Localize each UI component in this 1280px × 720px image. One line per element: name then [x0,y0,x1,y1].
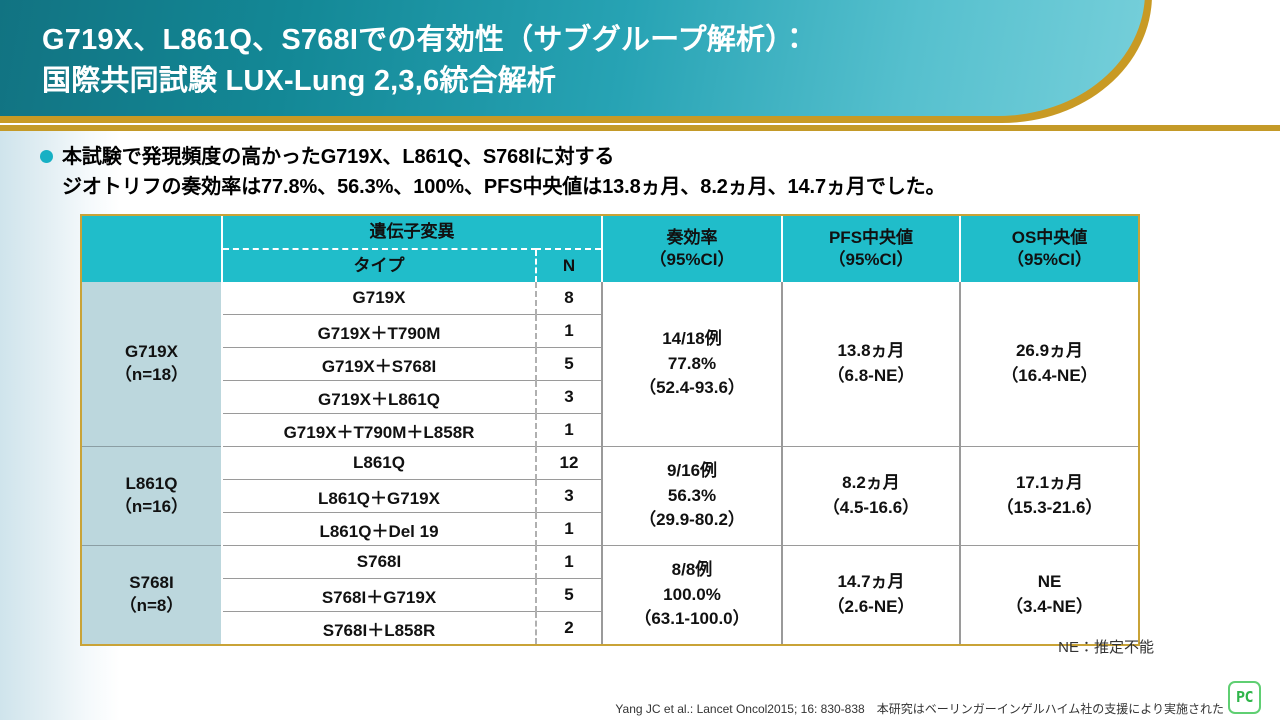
type-cell: L861Q [222,447,536,480]
n-cell: 1 [536,315,602,348]
table-row: S768I （n=8） S768I 1 8/8例 100.0% （63.1-10… [82,546,1138,579]
n-cell: 1 [536,546,602,579]
summary-bullet: 本試験で発現頻度の高かったG719X、L861Q、S768Iに対する ジオトリフ… [40,142,1230,202]
efficacy-table-container: 遺伝子変異 奏効率 （95%CI） PFS中央値 （95%CI） OS中央値 （… [80,214,1140,646]
table-row: L861Q （n=16） L861Q 12 9/16例 56.3% （29.9-… [82,447,1138,480]
summary-bullet-text: 本試験で発現頻度の高かったG719X、L861Q、S768Iに対する ジオトリフ… [62,142,945,202]
type-cell: G719X＋T790M [222,315,536,348]
n-cell: 1 [536,513,602,546]
n-cell: 8 [536,282,602,315]
header-corner-blank [82,216,222,282]
os-median-s768i: NE （3.4-NE） [960,546,1138,645]
pfs-median-s768i: 14.7ヵ月 （2.6-NE） [782,546,960,645]
os-median-g719x: 26.9ヵ月 （16.4-NE） [960,282,1138,447]
n-cell: 3 [536,381,602,414]
ne-definition-note: NE：推定不能 [1058,636,1154,657]
type-cell: G719X＋T790M＋L858R [222,414,536,447]
response-rate-s768i: 8/8例 100.0% （63.1-100.0） [602,546,782,645]
type-cell: L861Q＋Del 19 [222,513,536,546]
type-cell: S768I＋L858R [222,612,536,645]
n-cell: 12 [536,447,602,480]
pfs-median-g719x: 13.8ヵ月 （6.8-NE） [782,282,960,447]
type-cell: G719X [222,282,536,315]
citation-text: Yang JC et al.: Lancet Oncol2015; 16: 83… [615,700,1224,717]
header-os-median: OS中央値 （95%CI） [960,216,1138,282]
os-median-l861q: 17.1ヵ月 （15.3-21.6） [960,447,1138,546]
header-gene-mutation: 遺伝子変異 [222,216,602,249]
n-cell: 2 [536,612,602,645]
pc-logo-text: PC [1236,690,1253,705]
type-cell: L861Q＋G719X [222,480,536,513]
group-label-g719x: G719X （n=18） [82,282,222,447]
slide-title: G719X、L861Q、S768Iでの有効性（サブグループ解析）： 国際共同試験… [42,20,1102,102]
type-cell: S768I [222,546,536,579]
header-response-rate: 奏効率 （95%CI） [602,216,782,282]
bullet-dot-icon [40,150,53,163]
n-cell: 5 [536,579,602,612]
group-label-l861q: L861Q （n=16） [82,447,222,546]
pc-logo: PC [1228,681,1261,714]
efficacy-table: 遺伝子変異 奏効率 （95%CI） PFS中央値 （95%CI） OS中央値 （… [82,216,1138,644]
header-pfs-median: PFS中央値 （95%CI） [782,216,960,282]
response-rate-g719x: 14/18例 77.8% （52.4-93.6） [602,282,782,447]
table-head: 遺伝子変異 奏効率 （95%CI） PFS中央値 （95%CI） OS中央値 （… [82,216,1138,282]
n-cell: 1 [536,414,602,447]
response-rate-l861q: 9/16例 56.3% （29.9-80.2） [602,447,782,546]
type-cell: G719X＋L861Q [222,381,536,414]
n-cell: 5 [536,348,602,381]
table-body: G719X （n=18） G719X 8 14/18例 77.8% （52.4-… [82,282,1138,644]
n-cell: 3 [536,480,602,513]
header-type: タイプ [222,249,536,282]
pfs-median-l861q: 8.2ヵ月 （4.5-16.6） [782,447,960,546]
table-row: G719X （n=18） G719X 8 14/18例 77.8% （52.4-… [82,282,1138,315]
group-label-s768i: S768I （n=8） [82,546,222,645]
type-cell: S768I＋G719X [222,579,536,612]
table-header-row-1: 遺伝子変異 奏効率 （95%CI） PFS中央値 （95%CI） OS中央値 （… [82,216,1138,249]
type-cell: G719X＋S768I [222,348,536,381]
header-n: N [536,249,602,282]
